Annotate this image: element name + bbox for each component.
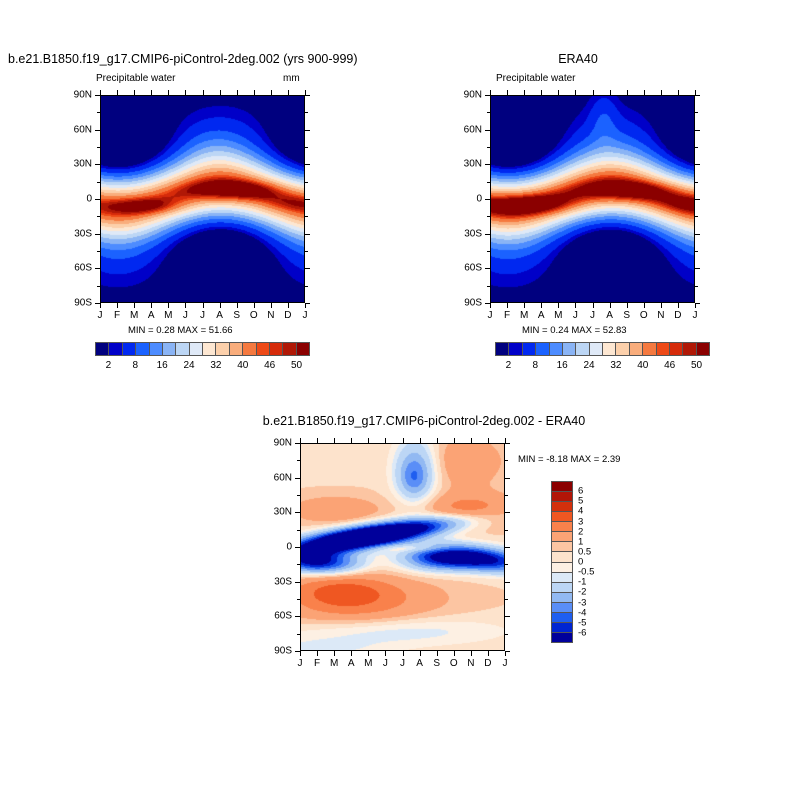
obs-colorbar-swatch [683,343,696,355]
model-colorbar-swatch [96,343,109,355]
diff-y-axis-label: 60S [260,611,292,622]
diff-x-tick [368,438,369,443]
diff-colorbar-swatch [552,633,572,642]
model-x-axis-label: J [183,310,188,321]
model-colorbar-swatch [176,343,189,355]
diff-y-minor-tick [297,599,300,600]
diff-y-minor-tick [505,599,508,600]
obs-colorbar-tick-label: 32 [610,360,621,371]
model-y-axis-label: 30S [60,228,92,239]
model-x-tick [203,303,204,308]
obs-colorbar-tick-label: 2 [506,360,512,371]
diff-y-axis-label: 90S [260,646,292,657]
diff-y-minor-tick [297,495,300,496]
obs-colorbar-swatch [563,343,576,355]
obs-y-tick [485,164,490,165]
diff-y-axis-label: 60N [260,472,292,483]
obs-x-axis-label: A [538,310,545,321]
model-x-tick [134,303,135,308]
obs-y-minor-tick [695,286,698,287]
obs-colorbar-swatch [657,343,670,355]
diff-y-tick [295,443,300,444]
obs-variable-label: Precipitable water [496,73,575,84]
obs-y-tick [485,130,490,131]
diff-x-tick [420,651,421,656]
obs-x-tick [627,303,628,308]
diff-x-axis-label: F [314,658,320,669]
model-contour-plot[interactable] [100,95,305,303]
model-x-axis-label: M [164,310,172,321]
diff-x-tick [488,651,489,656]
obs-y-tick [485,234,490,235]
model-x-axis-label: O [250,310,258,321]
obs-colorbar-tick-label: 24 [584,360,595,371]
model-y-minor-tick [305,147,308,148]
diff-x-axis-label: A [416,658,423,669]
obs-y-minor-tick [487,112,490,113]
diff-colorbar-swatch [552,563,572,573]
model-x-axis-label: N [267,310,274,321]
obs-x-tick [558,90,559,95]
model-variable-label: Precipitable water [96,73,175,84]
diff-x-tick [437,438,438,443]
obs-x-tick [541,303,542,308]
model-y-minor-tick [305,286,308,287]
diff-y-axis-label: 30S [260,576,292,587]
obs-colorbar-tick-label: 8 [533,360,539,371]
model-x-tick [237,303,238,308]
model-colorbar-tick-label: 16 [157,360,168,371]
model-units-label: mm [283,73,300,84]
model-x-tick [271,303,272,308]
obs-x-axis-label: J [488,310,493,321]
obs-y-axis-label: 0 [450,194,482,205]
diff-colorbar-tick-label: -6 [578,627,586,638]
model-x-axis-label: S [233,310,240,321]
diff-y-minor-tick [505,460,508,461]
diff-y-axis-label: 30N [260,507,292,518]
diff-x-tick [471,651,472,656]
diff-x-tick [334,651,335,656]
obs-x-tick [678,303,679,308]
model-x-tick [254,303,255,308]
diff-x-tick [454,438,455,443]
obs-x-axis-label: S [623,310,630,321]
model-colorbar-swatch [123,343,136,355]
obs-y-axis-label: 90S [450,298,482,309]
diff-y-minor-tick [297,460,300,461]
obs-colorbar-tick-label: 46 [664,360,675,371]
model-colorbar-swatch [216,343,229,355]
obs-colorbar-swatch [643,343,656,355]
model-y-tick [95,95,100,96]
obs-contour-plot[interactable] [490,95,695,303]
diff-y-minor-tick [505,564,508,565]
obs-x-axis-label: J [693,310,698,321]
diff-x-tick [420,438,421,443]
diff-colorbar-swatch [552,603,572,613]
diff-y-tick [295,582,300,583]
model-y-tick [95,164,100,165]
obs-y-tick [695,95,700,96]
model-y-tick [95,234,100,235]
model-x-tick [254,90,255,95]
model-x-tick [100,90,101,95]
model-y-tick [305,95,310,96]
model-y-minor-tick [97,112,100,113]
model-colorbar-swatch [109,343,122,355]
obs-y-minor-tick [695,182,698,183]
diff-x-tick [317,651,318,656]
model-x-axis-label: D [284,310,291,321]
obs-x-tick [644,303,645,308]
diff-x-tick [300,438,301,443]
diff-colorbar-swatch [552,613,572,623]
diff-x-axis-label: J [383,658,388,669]
model-x-tick [185,90,186,95]
diff-x-tick [334,438,335,443]
obs-colorbar-swatch [536,343,549,355]
obs-x-tick [627,90,628,95]
obs-x-tick [575,303,576,308]
obs-x-axis-label: M [554,310,562,321]
model-x-axis-label: J [200,310,205,321]
diff-x-tick [488,438,489,443]
obs-colorbar-swatch [496,343,509,355]
obs-x-tick [524,90,525,95]
model-x-tick [288,90,289,95]
diff-colorbar-swatch [552,492,572,502]
model-y-minor-tick [97,147,100,148]
model-x-tick [237,90,238,95]
model-colorbar-swatch [203,343,216,355]
diff-x-tick [505,651,506,656]
obs-x-axis-label: J [590,310,595,321]
model-y-tick [95,199,100,200]
obs-y-axis-label: 60S [450,263,482,274]
obs-x-axis-label: F [504,310,510,321]
diff-x-tick [385,651,386,656]
obs-stats-label: MIN = 0.24 MAX = 52.83 [522,325,627,336]
model-x-tick [168,90,169,95]
model-y-tick [305,130,310,131]
model-x-tick [151,303,152,308]
diff-y-minor-tick [297,634,300,635]
model-x-tick [185,303,186,308]
diff-x-tick [351,651,352,656]
diff-x-tick [437,651,438,656]
model-panel-title: b.e21.B1850.f19_g17.CMIP6-piControl-2deg… [8,52,358,66]
model-x-axis-label: J [303,310,308,321]
model-y-tick [95,268,100,269]
obs-x-axis-label: M [520,310,528,321]
diff-y-minor-tick [505,634,508,635]
obs-x-tick [678,90,679,95]
obs-y-minor-tick [487,216,490,217]
model-x-tick [271,90,272,95]
diff-contour-plot[interactable] [300,443,505,651]
diff-panel-title: b.e21.B1850.f19_g17.CMIP6-piControl-2deg… [263,414,585,428]
model-y-axis-label: 60S [60,263,92,274]
model-colorbar[interactable] [95,342,310,356]
obs-y-minor-tick [695,112,698,113]
obs-y-minor-tick [487,251,490,252]
diff-y-tick [505,478,510,479]
diff-y-tick [295,478,300,479]
model-y-minor-tick [305,216,308,217]
model-x-tick [220,90,221,95]
obs-x-tick [593,303,594,308]
diff-y-tick [295,547,300,548]
obs-y-minor-tick [695,251,698,252]
diff-y-minor-tick [505,530,508,531]
diff-x-tick [403,651,404,656]
model-x-tick [203,90,204,95]
model-x-axis-label: A [216,310,223,321]
model-x-tick [220,303,221,308]
obs-x-axis-label: J [573,310,578,321]
obs-x-tick [610,303,611,308]
diff-stats-label: MIN = -8.18 MAX = 2.39 [518,454,620,465]
model-colorbar-tick-label: 2 [106,360,112,371]
obs-x-axis-label: A [606,310,613,321]
obs-x-tick [695,303,696,308]
diff-y-tick [505,512,510,513]
diff-y-axis-label: 90N [260,438,292,449]
model-colorbar-swatch [243,343,256,355]
model-x-axis-label: J [98,310,103,321]
model-colorbar-swatch [297,343,309,355]
diff-x-tick [385,438,386,443]
model-x-axis-label: A [148,310,155,321]
diff-colorbar-swatch [552,482,572,492]
diff-colorbar-swatch [552,573,572,583]
model-y-tick [305,164,310,165]
diff-x-axis-label: S [433,658,440,669]
model-y-tick [305,199,310,200]
model-x-tick [117,90,118,95]
obs-y-tick [695,234,700,235]
diff-x-axis-label: J [503,658,508,669]
obs-x-tick [695,90,696,95]
obs-x-tick [593,90,594,95]
diff-x-tick [454,651,455,656]
obs-x-axis-label: O [640,310,648,321]
obs-y-tick [695,164,700,165]
diff-colorbar-swatch [552,542,572,552]
obs-y-tick [485,199,490,200]
diff-colorbar-swatch [552,502,572,512]
diff-colorbar[interactable] [551,481,573,643]
obs-x-axis-label: N [657,310,664,321]
obs-x-tick [507,303,508,308]
obs-y-tick [485,95,490,96]
obs-y-tick [485,268,490,269]
obs-x-tick [524,303,525,308]
obs-x-tick [558,303,559,308]
model-x-tick [100,303,101,308]
obs-colorbar-swatch [603,343,616,355]
obs-x-tick [490,303,491,308]
model-x-tick [305,90,306,95]
model-x-axis-label: M [130,310,138,321]
diff-colorbar-swatch [552,623,572,633]
diff-y-tick [295,616,300,617]
model-y-tick [305,234,310,235]
diff-colorbar-swatch [552,583,572,593]
model-colorbar-swatch [270,343,283,355]
diff-x-tick [351,438,352,443]
obs-colorbar-tick-label: 40 [637,360,648,371]
model-colorbar-swatch [230,343,243,355]
model-colorbar-swatch [136,343,149,355]
model-colorbar-swatch [283,343,296,355]
model-y-axis-label: 90N [60,90,92,101]
obs-colorbar-swatch [590,343,603,355]
diff-x-tick [471,438,472,443]
obs-x-tick [610,90,611,95]
diff-colorbar-swatch [552,552,572,562]
obs-colorbar-swatch [697,343,709,355]
model-y-axis-label: 0 [60,194,92,205]
obs-x-tick [661,90,662,95]
model-y-axis-label: 30N [60,159,92,170]
obs-colorbar-swatch [670,343,683,355]
model-colorbar-swatch [163,343,176,355]
model-y-minor-tick [305,182,308,183]
obs-y-axis-label: 30N [450,159,482,170]
diff-y-tick [505,443,510,444]
model-y-minor-tick [305,251,308,252]
obs-y-minor-tick [695,147,698,148]
model-x-tick [134,90,135,95]
diff-y-minor-tick [297,564,300,565]
obs-x-tick [575,90,576,95]
obs-y-minor-tick [487,147,490,148]
diff-y-minor-tick [505,495,508,496]
model-y-axis-label: 90S [60,298,92,309]
obs-colorbar-swatch [523,343,536,355]
obs-y-axis-label: 60N [450,124,482,135]
diff-x-axis-label: O [450,658,458,669]
obs-x-tick [507,90,508,95]
diff-y-minor-tick [297,530,300,531]
diff-x-axis-label: J [400,658,405,669]
model-y-minor-tick [305,112,308,113]
model-colorbar-swatch [150,343,163,355]
model-colorbar-tick-label: 32 [210,360,221,371]
model-y-tick [95,130,100,131]
model-x-tick [288,303,289,308]
diff-x-tick [317,438,318,443]
model-y-minor-tick [97,216,100,217]
obs-y-minor-tick [695,216,698,217]
model-y-tick [305,268,310,269]
obs-colorbar-swatch [509,343,522,355]
diff-y-tick [295,512,300,513]
model-colorbar-swatch [257,343,270,355]
obs-colorbar-swatch [616,343,629,355]
obs-y-tick [695,199,700,200]
obs-y-minor-tick [487,182,490,183]
diff-y-tick [505,582,510,583]
model-y-minor-tick [97,286,100,287]
obs-colorbar[interactable] [495,342,710,356]
diff-x-axis-label: M [330,658,338,669]
obs-x-tick [661,303,662,308]
diff-x-tick [505,438,506,443]
diff-y-axis-label: 0 [260,542,292,553]
obs-colorbar-swatch [550,343,563,355]
diff-y-tick [505,547,510,548]
obs-x-tick [541,90,542,95]
model-x-tick [151,90,152,95]
obs-x-tick [490,90,491,95]
obs-y-minor-tick [487,286,490,287]
diff-colorbar-swatch [552,532,572,542]
obs-y-tick [695,130,700,131]
diff-x-axis-label: A [348,658,355,669]
obs-colorbar-swatch [576,343,589,355]
diff-x-tick [368,651,369,656]
model-x-tick [305,303,306,308]
model-x-axis-label: F [114,310,120,321]
obs-colorbar-tick-label: 50 [691,360,702,371]
model-colorbar-tick-label: 8 [133,360,139,371]
model-colorbar-tick-label: 40 [237,360,248,371]
obs-colorbar-tick-label: 16 [557,360,568,371]
model-colorbar-tick-label: 50 [291,360,302,371]
model-x-tick [117,303,118,308]
obs-panel-title: ERA40 [558,52,598,66]
diff-x-axis-label: M [364,658,372,669]
model-x-tick [168,303,169,308]
model-y-minor-tick [97,251,100,252]
diff-x-tick [300,651,301,656]
obs-y-axis-label: 90N [450,90,482,101]
model-y-axis-label: 60N [60,124,92,135]
model-colorbar-tick-label: 24 [184,360,195,371]
diff-x-axis-label: N [467,658,474,669]
obs-y-axis-label: 30S [450,228,482,239]
diff-colorbar-swatch [552,512,572,522]
obs-x-tick [644,90,645,95]
diff-x-tick [403,438,404,443]
diff-colorbar-swatch [552,593,572,603]
obs-colorbar-swatch [630,343,643,355]
model-colorbar-swatch [190,343,203,355]
diff-y-tick [505,616,510,617]
model-stats-label: MIN = 0.28 MAX = 51.66 [128,325,233,336]
model-colorbar-tick-label: 46 [264,360,275,371]
diff-colorbar-swatch [552,522,572,532]
diff-x-axis-label: D [484,658,491,669]
obs-x-axis-label: D [674,310,681,321]
diff-x-axis-label: J [298,658,303,669]
obs-y-tick [695,268,700,269]
model-y-minor-tick [97,182,100,183]
